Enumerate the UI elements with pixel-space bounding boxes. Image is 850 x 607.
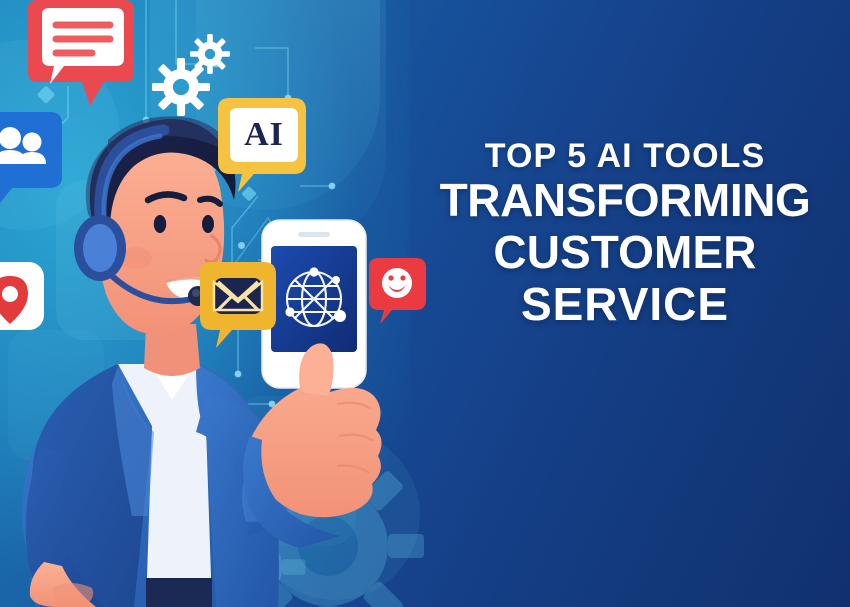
chat-message-bubble[interactable] (12, 0, 140, 110)
promo-banner: AI TOP 5 AI TOOLS TRANSFORMING CUSTOMER … (0, 0, 850, 607)
headline-line-2: CUSTOMER (400, 227, 850, 279)
headline-block: TOP 5 AI TOOLS TRANSFORMING CUSTOMER SER… (400, 138, 850, 331)
gear-small-icon (190, 34, 230, 74)
ai-bubble[interactable]: AI (214, 96, 310, 196)
headline-line-3: SERVICE (400, 279, 850, 331)
headline-kicker: TOP 5 AI TOOLS (400, 138, 850, 175)
email-bubble[interactable] (196, 260, 280, 352)
location-pin-tile[interactable] (0, 258, 52, 346)
ai-bubble-label: AI (230, 112, 298, 158)
headline-line-1: TRANSFORMING (400, 175, 850, 227)
users-group-bubble[interactable] (0, 110, 66, 214)
